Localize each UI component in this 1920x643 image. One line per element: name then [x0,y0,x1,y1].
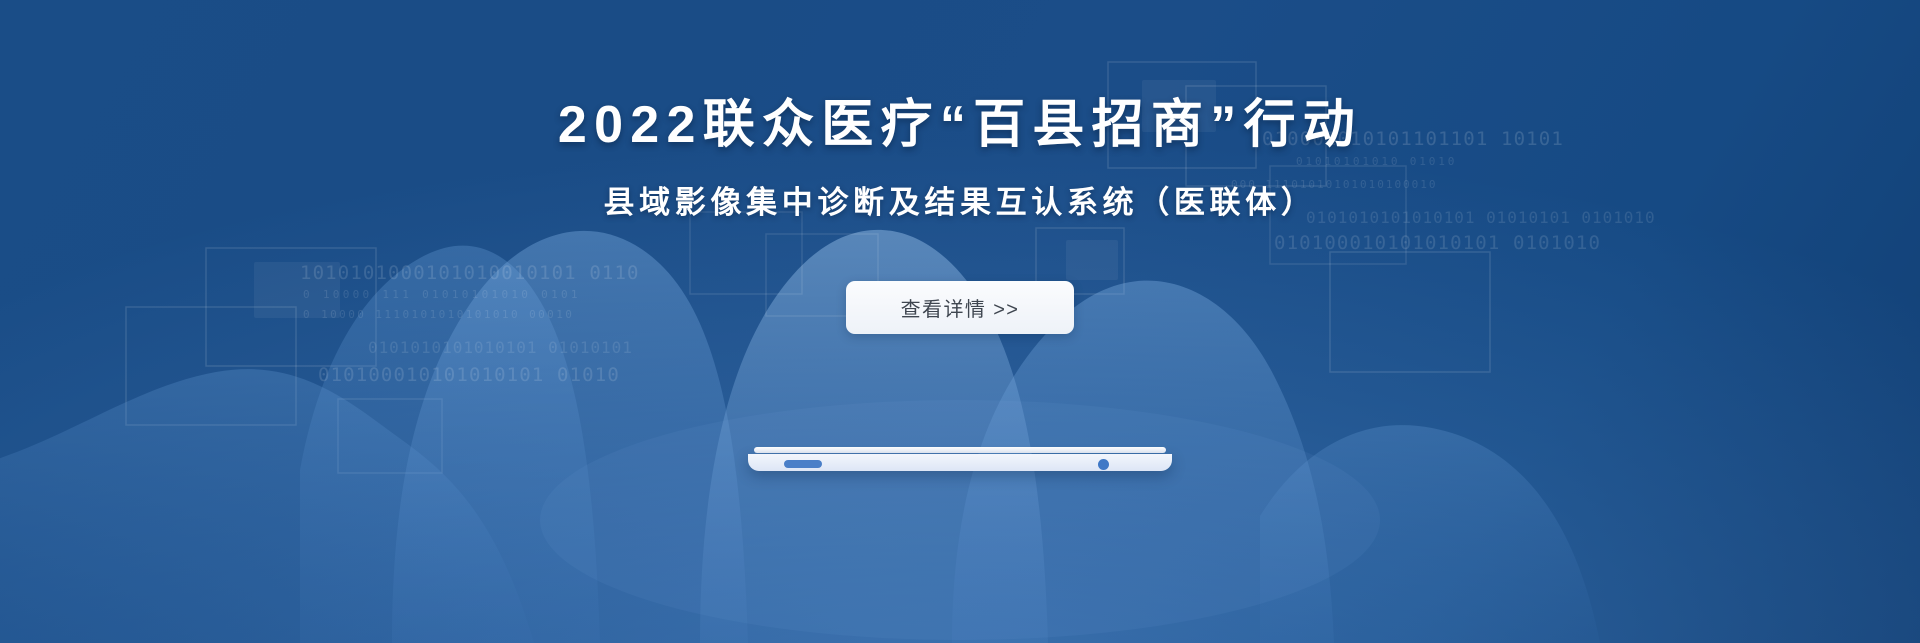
banner-title: 2022联众医疗“百县招商”行动 [558,95,1362,156]
promo-banner: 1010101000101010010101 0110 0 10000 111 … [0,0,1920,643]
cta-container: 查看详情 >> [846,281,1074,334]
view-details-button[interactable]: 查看详情 >> [846,281,1074,334]
laptop-lid-edge [754,447,1166,453]
laptop-indicator-dot [1098,459,1109,470]
laptop-indicator-bar [784,460,822,468]
laptop-base-graphic [748,447,1172,475]
banner-content: 2022联众医疗“百县招商”行动 县域影像集中诊断及结果互认系统（医联体） 查看… [0,0,1920,643]
banner-subtitle: 县域影像集中诊断及结果互认系统（医联体） [604,184,1317,221]
